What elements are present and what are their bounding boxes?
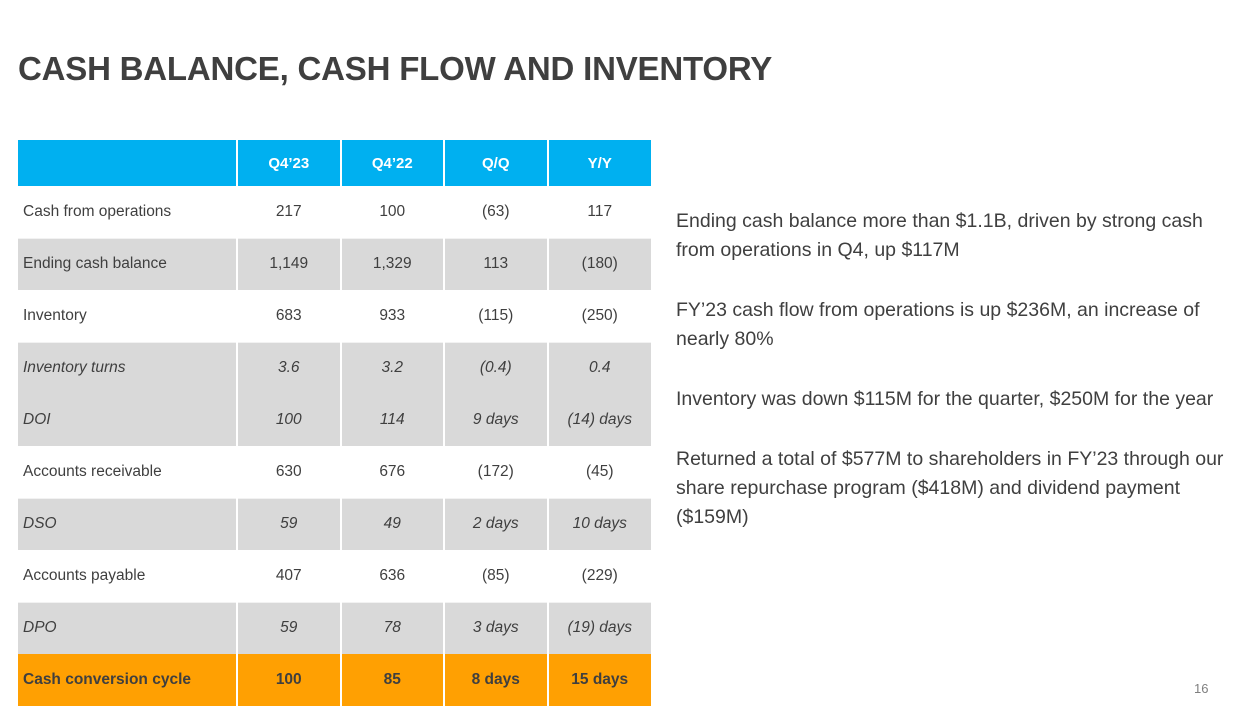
row-value: 3 days (444, 602, 548, 654)
row-value: 3.2 (341, 342, 445, 394)
row-value: (250) (548, 290, 652, 342)
row-value: 85 (341, 654, 445, 706)
row-value: 676 (341, 446, 445, 498)
row-value: (63) (444, 186, 548, 238)
financial-metrics-table: Q4’23Q4’22Q/QY/Y Cash from operations217… (18, 140, 651, 706)
table-row: Cash from operations217100(63)117 (18, 186, 651, 238)
row-value: 9 days (444, 394, 548, 446)
table-row: Ending cash balance1,1491,329113(180) (18, 238, 651, 290)
row-label: DPO (18, 602, 237, 654)
row-value: 114 (341, 394, 445, 446)
row-value: (172) (444, 446, 548, 498)
commentary-bullet: FY’23 cash flow from operations is up $2… (676, 296, 1224, 354)
row-value: 636 (341, 550, 445, 602)
row-value: (180) (548, 238, 652, 290)
row-label: Cash from operations (18, 186, 237, 238)
table-row: Inventory turns3.63.2(0.4)0.4 (18, 342, 651, 394)
table-row: Inventory683933(115)(250) (18, 290, 651, 342)
row-label: Accounts payable (18, 550, 237, 602)
row-value: 100 (341, 186, 445, 238)
row-label: Cash conversion cycle (18, 654, 237, 706)
row-value: 59 (237, 602, 341, 654)
table-body: Cash from operations217100(63)117Ending … (18, 186, 651, 706)
row-value: 8 days (444, 654, 548, 706)
row-value: 683 (237, 290, 341, 342)
column-header-qq: Q/Q (444, 140, 548, 186)
row-value: 15 days (548, 654, 652, 706)
row-value: 933 (341, 290, 445, 342)
row-value: 113 (444, 238, 548, 290)
row-value: 0.4 (548, 342, 652, 394)
row-label: Inventory (18, 290, 237, 342)
table-row: DPO59783 days(19) days (18, 602, 651, 654)
column-header-blank (18, 140, 237, 186)
slide-canvas: CASH BALANCE, CASH FLOW AND INVENTORY Q4… (0, 0, 1236, 705)
commentary-list: Ending cash balance more than $1.1B, dri… (676, 207, 1224, 532)
row-value: 100 (237, 654, 341, 706)
column-header-q422: Q4’22 (341, 140, 445, 186)
row-value: 117 (548, 186, 652, 238)
row-label: Inventory turns (18, 342, 237, 394)
row-value: 1,149 (237, 238, 341, 290)
table-header: Q4’23Q4’22Q/QY/Y (18, 140, 651, 186)
row-value: 217 (237, 186, 341, 238)
row-value: 49 (341, 498, 445, 550)
row-value: 78 (341, 602, 445, 654)
commentary-bullet: Inventory was down $115M for the quarter… (676, 385, 1224, 414)
row-value: (19) days (548, 602, 652, 654)
table-row: Accounts payable407636(85)(229) (18, 550, 651, 602)
column-header-q423: Q4’23 (237, 140, 341, 186)
row-value: 100 (237, 394, 341, 446)
row-value: 2 days (444, 498, 548, 550)
row-value: (0.4) (444, 342, 548, 394)
page-title: CASH BALANCE, CASH FLOW AND INVENTORY (18, 49, 1018, 89)
table-header-row: Q4’23Q4’22Q/QY/Y (18, 140, 651, 186)
row-value: 10 days (548, 498, 652, 550)
page-number: 16 (1194, 681, 1208, 696)
row-value: 3.6 (237, 342, 341, 394)
row-value: (115) (444, 290, 548, 342)
table-row: Accounts receivable630676(172)(45) (18, 446, 651, 498)
row-value: 407 (237, 550, 341, 602)
table-row: DOI1001149 days(14) days (18, 394, 651, 446)
row-value: 59 (237, 498, 341, 550)
row-value: (14) days (548, 394, 652, 446)
commentary-bullet: Ending cash balance more than $1.1B, dri… (676, 207, 1224, 265)
row-value: 630 (237, 446, 341, 498)
table-row: Cash conversion cycle100858 days15 days (18, 654, 651, 706)
row-label: DOI (18, 394, 237, 446)
row-value: (45) (548, 446, 652, 498)
table-row: DSO59492 days10 days (18, 498, 651, 550)
column-header-yy: Y/Y (548, 140, 652, 186)
commentary-bullet: Returned a total of $577M to shareholder… (676, 445, 1224, 532)
row-label: Ending cash balance (18, 238, 237, 290)
row-value: 1,329 (341, 238, 445, 290)
row-label: DSO (18, 498, 237, 550)
row-label: Accounts receivable (18, 446, 237, 498)
row-value: (85) (444, 550, 548, 602)
row-value: (229) (548, 550, 652, 602)
